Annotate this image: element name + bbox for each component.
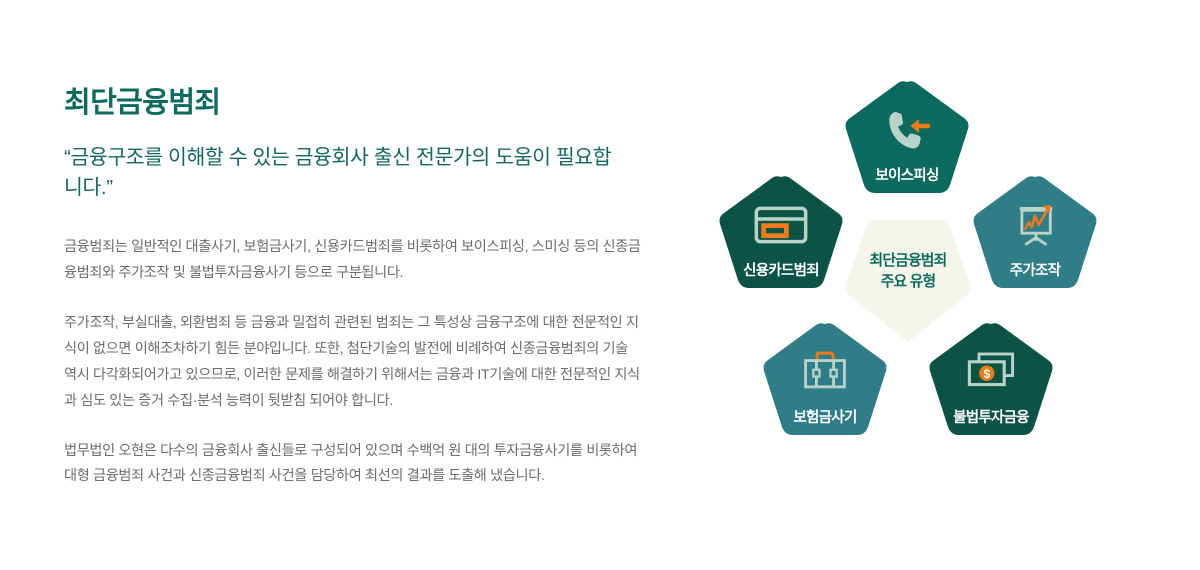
diagram-node-illegal-investment[interactable]: $ 불법투자금융 [928, 322, 1054, 442]
center-label-line1: 최단금융범죄 [844, 251, 972, 272]
phone-incoming-icon [844, 106, 970, 154]
page-root: 최단금융범죄 “금융구조를 이해할 수 있는 금융회사 출신 전문가의 도움이 … [0, 0, 1200, 570]
node-label: 신용카드범죄 [718, 264, 844, 279]
diagram-node-voice-phishing[interactable]: 보이스피싱 [844, 80, 970, 200]
lead-quote: “금융구조를 이해할 수 있는 금융회사 출신 전문가의 도움이 필요합니다.” [64, 143, 624, 204]
body-paragraph-1: 금융범죄는 일반적인 대출사기, 보험금사기, 신용카드범죄를 비롯하여 보이스… [64, 235, 644, 287]
node-label: 불법투자금융 [928, 411, 1054, 426]
credit-card-icon [718, 201, 844, 249]
diagram-node-insurance-fraud[interactable]: 보험금사기 [762, 322, 888, 442]
center-label-line2: 주요 유형 [844, 272, 972, 293]
svg-text:$: $ [983, 367, 990, 381]
crime-types-diagram: 최단금융범죄 주요 유형 보이스피싱 [700, 60, 1100, 460]
diagram-node-stock-manipulation[interactable]: 주가조작 [972, 175, 1098, 295]
body-paragraph-2: 주가조작, 부실대출, 외환범죄 등 금융과 밀접히 관련된 범죄는 그 특성상… [64, 311, 644, 414]
node-label: 보이스피싱 [844, 169, 970, 184]
center-label: 최단금융범죄 주요 유형 [844, 251, 972, 293]
briefcase-icon [762, 348, 888, 396]
body-paragraph-3: 법무법인 오현은 다수의 금융회사 출신들로 구성되어 있으며 수백억 원 대의… [64, 439, 644, 491]
banknote-dollar-icon: $ [928, 348, 1054, 396]
diagram-node-credit-card-crime[interactable]: 신용카드범죄 [718, 175, 844, 295]
node-label: 주가조작 [972, 264, 1098, 279]
page-title: 최단금융범죄 [64, 86, 664, 121]
content-column: 최단금융범죄 “금융구조를 이해할 수 있는 금융회사 출신 전문가의 도움이 … [64, 86, 664, 490]
chart-board-icon [972, 201, 1098, 249]
node-label: 보험금사기 [762, 411, 888, 426]
